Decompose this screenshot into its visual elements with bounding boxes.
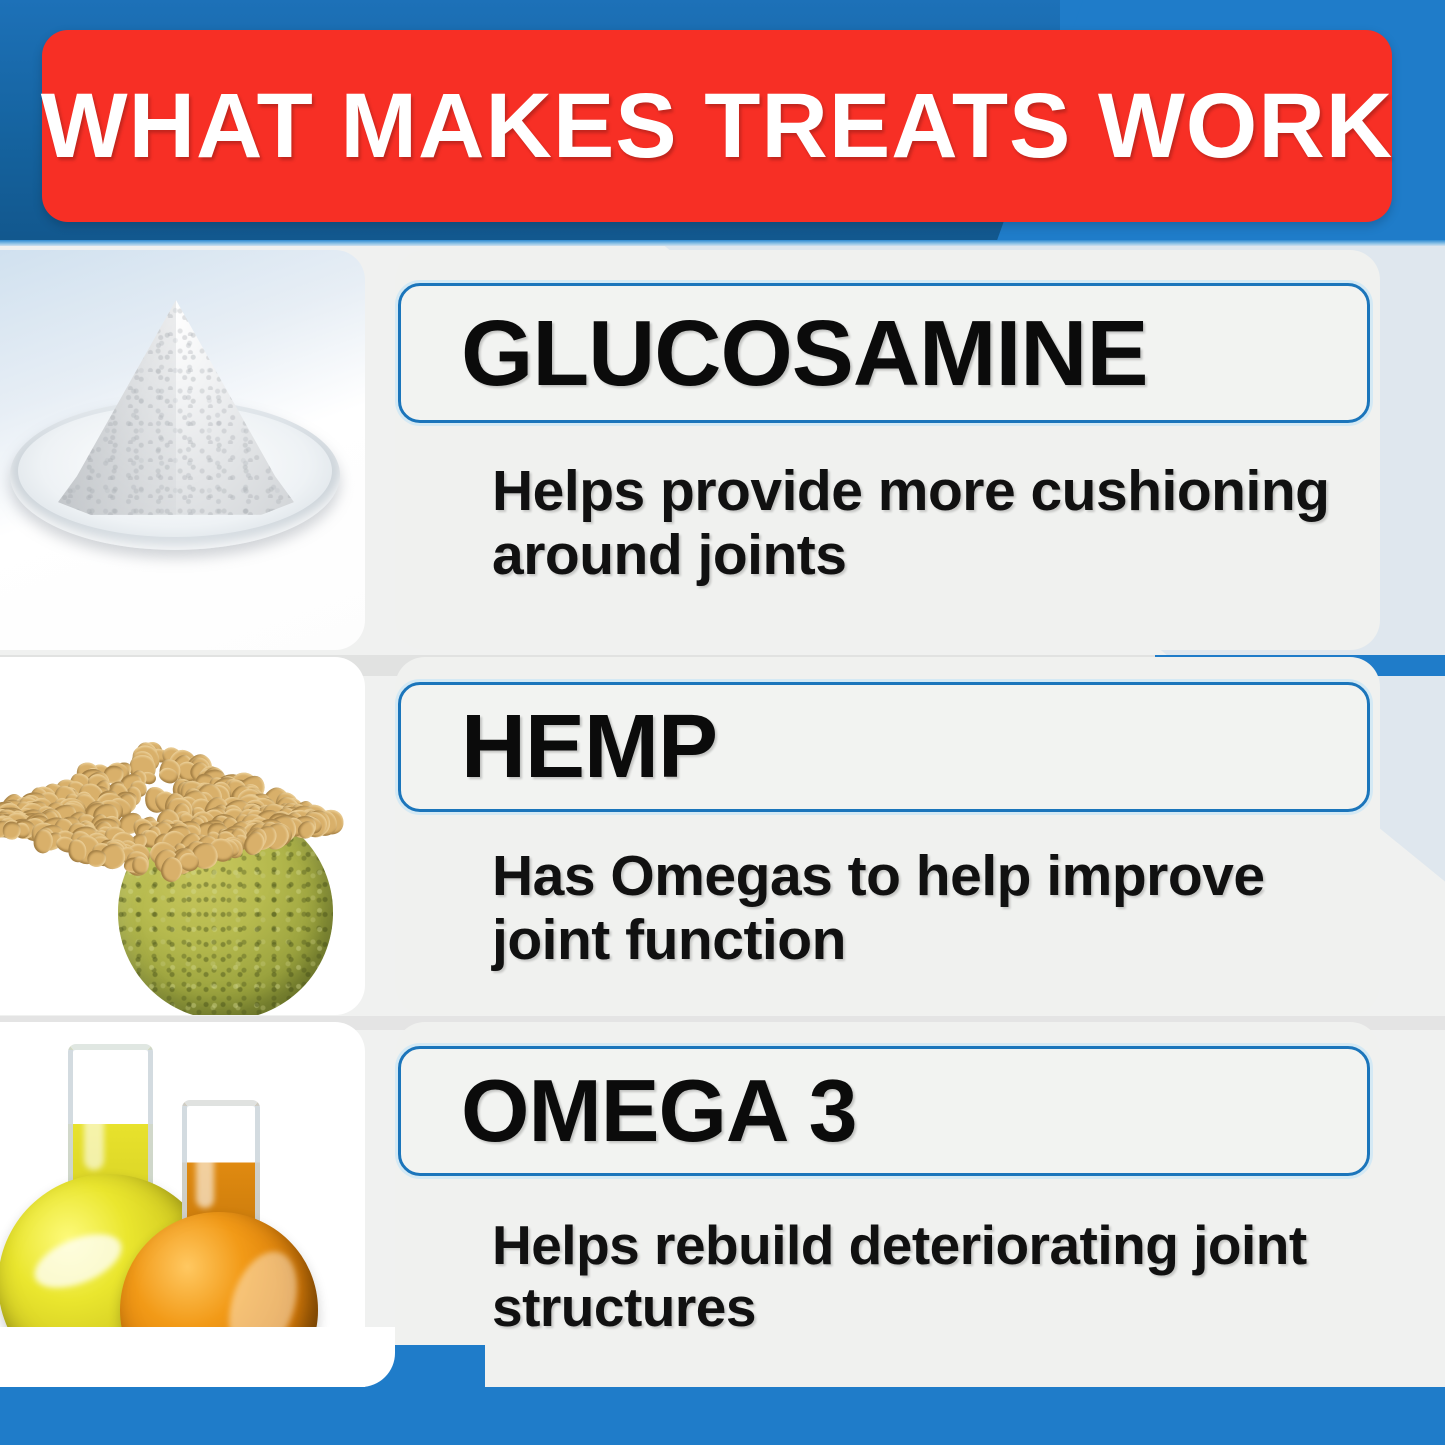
ingredient-name-box-2: HEMP bbox=[398, 682, 1370, 812]
ingredient-name-box-3: OMEGA 3 bbox=[398, 1046, 1370, 1176]
footer-band bbox=[0, 1387, 1445, 1445]
ingredient-image-2 bbox=[0, 657, 365, 1015]
ingredient-name-box-1: GLUCOSAMINE bbox=[398, 283, 1370, 423]
page-title: WHAT MAKES TREATS WORK bbox=[41, 80, 1393, 172]
ingredient-name-3: OMEGA 3 bbox=[461, 1067, 857, 1155]
footer-left-cutout bbox=[0, 1327, 395, 1387]
infographic-poster: WHAT MAKES TREATS WORK GLUCOSAMINE Helps… bbox=[0, 0, 1445, 1445]
ingredient-name-2: HEMP bbox=[461, 702, 717, 792]
ingredient-description-1: Helps provide more cushioning around joi… bbox=[492, 460, 1372, 588]
ingredient-description-2: Has Omegas to help improve joint functio… bbox=[492, 845, 1372, 973]
ingredient-description-3: Helps rebuild deteriorating joint struct… bbox=[492, 1215, 1422, 1338]
yellow-flask-neck-highlight-icon bbox=[84, 1060, 104, 1170]
ingredient-image-1 bbox=[0, 250, 365, 650]
title-banner: WHAT MAKES TREATS WORK bbox=[42, 30, 1392, 222]
ingredient-name-1: GLUCOSAMINE bbox=[461, 307, 1148, 400]
amber-flask-neck-highlight-icon bbox=[196, 1112, 214, 1208]
